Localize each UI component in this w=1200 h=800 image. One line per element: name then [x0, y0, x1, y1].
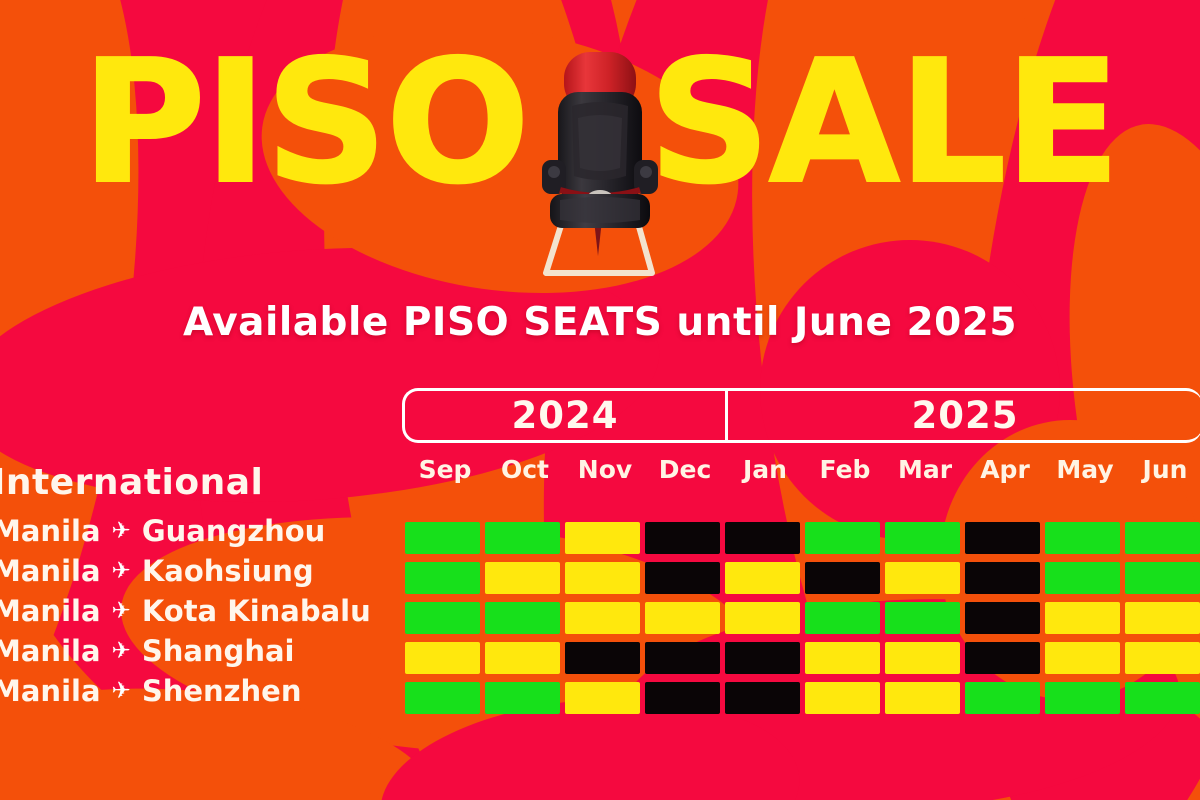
year-header-2024: 2024 [405, 391, 728, 440]
availability-cell [805, 642, 880, 674]
availability-cell [965, 522, 1040, 554]
availability-cell [485, 602, 560, 634]
month-header-feb: Feb [805, 455, 885, 484]
availability-cell [1125, 682, 1200, 714]
piso-sale-promo-graphic: PISOSALE [0, 0, 1200, 800]
month-header-dec: Dec [645, 455, 725, 484]
route-origin: Manila [0, 594, 101, 628]
route-origin: Manila [0, 674, 101, 708]
availability-cell [885, 682, 960, 714]
availability-cell [725, 562, 800, 594]
availability-cell [885, 522, 960, 554]
availability-cell [485, 562, 560, 594]
availability-cell [805, 522, 880, 554]
availability-cell [885, 562, 960, 594]
route-origin: Manila [0, 634, 101, 668]
availability-cell [805, 682, 880, 714]
availability-cell [405, 642, 480, 674]
availability-cell [1125, 602, 1200, 634]
month-header-jan: Jan [725, 455, 805, 484]
availability-cell [1125, 642, 1200, 674]
availability-cell [1045, 602, 1120, 634]
availability-cell [805, 562, 880, 594]
year-header-bar: 2024 2025 [402, 388, 1200, 443]
availability-cell [645, 562, 720, 594]
month-header-jun: Jun [1125, 455, 1200, 484]
month-header-mar: Mar [885, 455, 965, 484]
route-destination: Kota Kinabalu [142, 594, 371, 628]
month-header-may: May [1045, 455, 1125, 484]
route-label-shenzhen: Manila✈Shenzhen [0, 674, 302, 708]
availability-cell [485, 682, 560, 714]
availability-cell [725, 682, 800, 714]
route-destination: Shanghai [142, 634, 295, 668]
availability-cell [565, 602, 640, 634]
availability-cell [405, 522, 480, 554]
availability-cell [1045, 682, 1120, 714]
availability-cell [485, 642, 560, 674]
availability-cell [725, 522, 800, 554]
airplane-icon: ✈ [112, 518, 131, 544]
availability-cell [805, 602, 880, 634]
availability-cell [965, 642, 1040, 674]
route-label-kaohsiung: Manila✈Kaohsiung [0, 554, 314, 588]
route-origin: Manila [0, 554, 101, 588]
availability-cell [1125, 522, 1200, 554]
availability-cell [1045, 522, 1120, 554]
route-label-shanghai: Manila✈Shanghai [0, 634, 294, 668]
availability-cell [1125, 562, 1200, 594]
month-header-sep: Sep [405, 455, 485, 484]
availability-cell [965, 562, 1040, 594]
airplane-icon: ✈ [112, 638, 131, 664]
availability-cell [485, 522, 560, 554]
route-label-kota-kinabalu: Manila✈Kota Kinabalu [0, 594, 371, 628]
route-origin: Manila [0, 514, 101, 548]
availability-cell [645, 602, 720, 634]
year-header-2025: 2025 [728, 391, 1200, 440]
availability-cell [725, 642, 800, 674]
availability-cell [965, 602, 1040, 634]
month-header-row: SepOctNovDecJanFebMarAprMayJun [405, 455, 1200, 497]
availability-cell [725, 602, 800, 634]
availability-cell [405, 562, 480, 594]
availability-cell [565, 522, 640, 554]
airplane-icon: ✈ [112, 678, 131, 704]
availability-cell [645, 522, 720, 554]
availability-cell [965, 682, 1040, 714]
month-header-oct: Oct [485, 455, 565, 484]
section-title-international: International [0, 462, 263, 503]
availability-calendar: 2024 2025 SepOctNovDecJanFebMarAprMayJun… [0, 0, 1200, 800]
availability-cell [565, 642, 640, 674]
availability-cell [565, 682, 640, 714]
month-header-nov: Nov [565, 455, 645, 484]
route-destination: Kaohsiung [142, 554, 314, 588]
availability-cell [885, 642, 960, 674]
availability-cell [1045, 562, 1120, 594]
availability-cell [405, 682, 480, 714]
availability-cell [565, 562, 640, 594]
route-label-guangzhou: Manila✈Guangzhou [0, 514, 325, 548]
route-destination: Guangzhou [142, 514, 326, 548]
route-destination: Shenzhen [142, 674, 302, 708]
airplane-icon: ✈ [112, 558, 131, 584]
airplane-icon: ✈ [112, 598, 131, 624]
month-header-apr: Apr [965, 455, 1045, 484]
availability-cell [1045, 642, 1120, 674]
availability-cell [645, 642, 720, 674]
availability-cell [885, 602, 960, 634]
availability-cell [405, 602, 480, 634]
availability-cell [645, 682, 720, 714]
